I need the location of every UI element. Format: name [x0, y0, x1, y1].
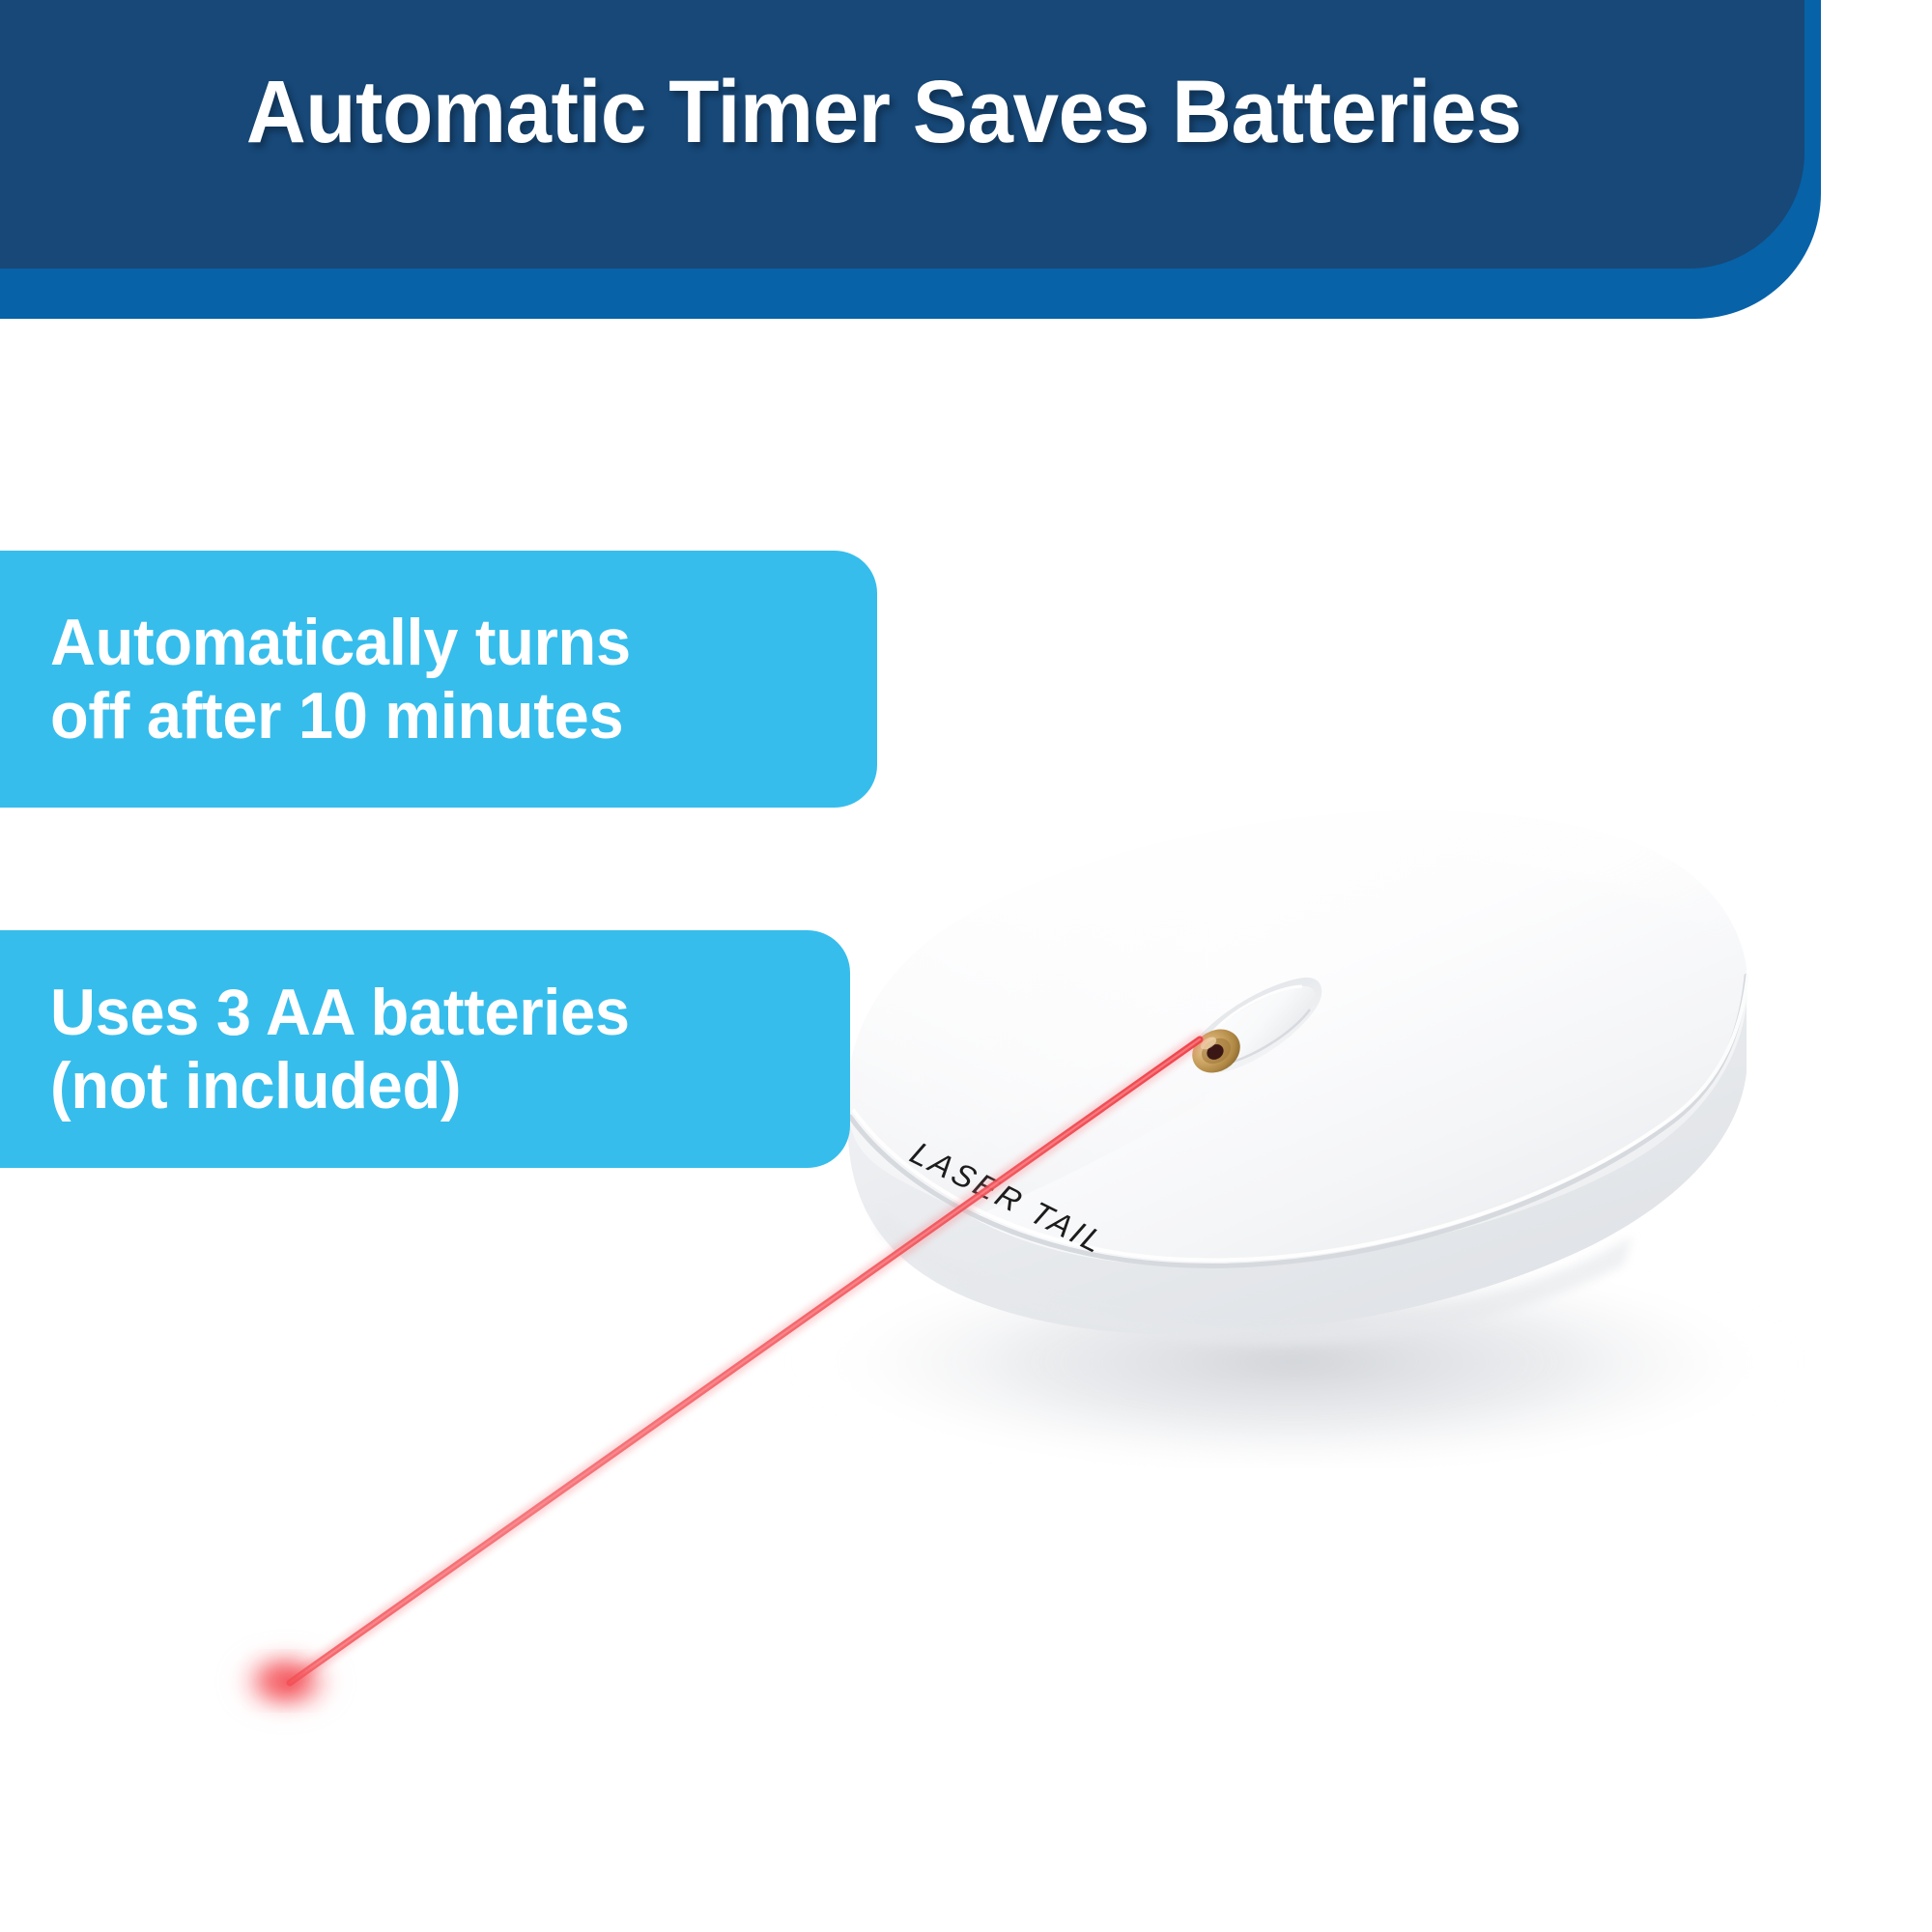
product-illustration	[676, 734, 1893, 1468]
callout-batteries: Uses 3 AA batteries (not included)	[0, 930, 850, 1168]
page-title: Automatic Timer Saves Batteries	[62, 66, 1706, 159]
laser-dot	[236, 1653, 336, 1711]
callout-auto-off-line-2: off after 10 minutes	[50, 679, 812, 753]
product-feature-image: Automatic Timer Saves Batteries	[0, 0, 1932, 1932]
callout-batteries-line-2: (not included)	[50, 1049, 786, 1122]
laser-dot-core	[261, 1666, 311, 1695]
callout-batteries-line-1: Uses 3 AA batteries	[50, 976, 786, 1049]
callout-auto-off-line-1: Automatically turns	[50, 606, 812, 679]
callout-auto-off: Automatically turns off after 10 minutes	[0, 551, 877, 808]
